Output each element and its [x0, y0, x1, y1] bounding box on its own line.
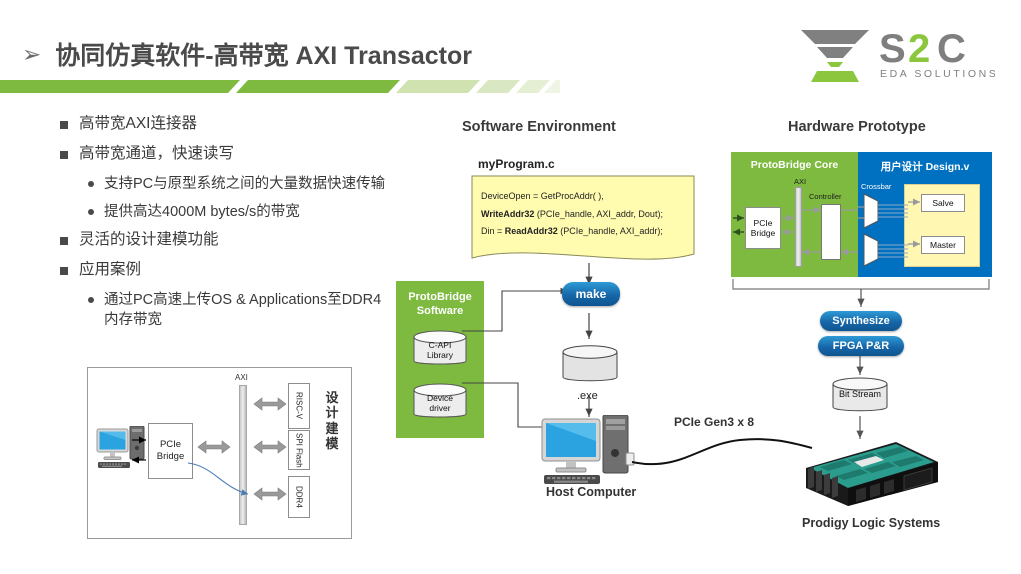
code-block: DeviceOpen = GetProcAddr( ), WriteAddr32…: [481, 188, 693, 241]
crossbar-connectors: [858, 152, 992, 277]
slave-block: Salve: [921, 194, 965, 212]
code-line-3: Din = ReadAddr32 (PCIe_handle, AXI_addr)…: [481, 223, 693, 241]
dot-bullet-icon: [88, 181, 94, 187]
sub-bullet-text: 支持PC与原型系统之间的大量数据快速传输: [104, 174, 385, 194]
bullet-item: 高带宽通道，快速读写: [60, 144, 390, 165]
peripheral-spi-flash: SPI Flash: [288, 430, 310, 470]
host-computer-illustration: [540, 415, 636, 487]
bullet-item: 应用案例: [60, 260, 390, 281]
bullet-list: 高带宽AXI连接器 高带宽通道，快速读写 支持PC与原型系统之间的大量数据快速传…: [60, 114, 390, 338]
pcie-link-label: PCIe Gen3 x 8: [674, 415, 754, 429]
title-arrow-icon: ➢: [22, 43, 41, 66]
s2c-logo: S 2 C EDA SOLUTIONS: [795, 22, 995, 84]
square-bullet-icon: [60, 151, 68, 159]
code-line-1: DeviceOpen = GetProcAddr( ),: [481, 188, 693, 206]
bullet-text: 灵活的设计建模功能: [79, 230, 219, 251]
user-design-box: 用户设计 Design.v Crossbar: [858, 152, 992, 277]
peripheral-riscv: RISC-V: [288, 383, 310, 429]
bullet-item: 灵活的设计建模功能: [60, 230, 390, 251]
slide-root: ➢ 协同仿真软件-高带宽 AXI Transactor S 2 C EDA SO…: [0, 0, 1021, 574]
svg-text:2: 2: [908, 27, 930, 71]
code-line-2: WriteAddr32 (PCIe_handle, AXI_addr, Dout…: [481, 206, 693, 224]
square-bullet-icon: [60, 121, 68, 129]
sub-bullet-item: 通过PC高速上传OS & Applications至DDR4内存带宽: [88, 290, 390, 330]
bit-stream-label: Bit Stream: [831, 389, 889, 400]
peripheral-ddr4-label: DDR4: [295, 486, 304, 508]
sub-bullet-text: 提供高达4000M bytes/s的带宽: [104, 202, 300, 222]
sub-bullet-text: 通过PC高速上传OS & Applications至DDR4内存带宽: [104, 290, 390, 330]
dot-bullet-icon: [88, 297, 94, 303]
software-environment-heading: Software Environment: [462, 119, 616, 135]
bullet-text: 应用案例: [79, 260, 141, 281]
peripheral-spi-flash-label: SPI Flash: [295, 433, 304, 468]
dot-bullet-icon: [88, 209, 94, 215]
exe-cylinder: [561, 344, 619, 386]
host-computer-label: Host Computer: [546, 485, 636, 499]
title-underline-decoration: [0, 80, 560, 93]
code-filename-label: myProgram.c: [478, 157, 555, 171]
svg-text:C: C: [937, 27, 966, 71]
synthesize-step-pill[interactable]: Synthesize: [820, 311, 902, 331]
square-bullet-icon: [60, 237, 68, 245]
hardware-prototype-heading: Hardware Prototype: [788, 119, 926, 135]
hardware-to-synthesize-bracket: [729, 277, 995, 311]
bullet-text: 高带宽通道，快速读写: [79, 144, 234, 165]
bullet-text: 高带宽AXI连接器: [79, 114, 197, 135]
peripheral-ddr4: DDR4: [288, 476, 310, 518]
hw-core-connectors: [731, 152, 858, 277]
sub-bullet-item: 提供高达4000M bytes/s的带宽: [88, 202, 390, 222]
bullet-item: 高带宽AXI连接器: [60, 114, 390, 135]
peripheral-riscv-label: RISC-V: [295, 392, 304, 419]
square-bullet-icon: [60, 267, 68, 275]
page-title-text: 协同仿真软件-高带宽 AXI Transactor: [55, 36, 472, 72]
svg-text:S: S: [879, 27, 906, 71]
sub-bullet-item: 支持PC与原型系统之间的大量数据快速传输: [88, 174, 390, 194]
bit-stream-cylinder: Bit Stream: [831, 376, 889, 416]
exe-label: .exe: [577, 390, 598, 402]
logo-tagline: EDA SOLUTIONS: [880, 68, 995, 80]
page-title: ➢ 协同仿真软件-高带宽 AXI Transactor: [22, 36, 472, 72]
prodigy-label: Prodigy Logic Systems: [802, 516, 940, 530]
protobridge-core-box: ProtoBridge Core AXI Controller PCIe Bri…: [731, 152, 858, 277]
master-block: Master: [921, 236, 965, 254]
prodigy-board-illustration: [800, 438, 940, 508]
diagram-connectors: [88, 368, 353, 540]
fpga-pnr-step-pill[interactable]: FPGA P&R: [818, 336, 904, 356]
make-step-pill[interactable]: make: [562, 282, 620, 306]
design-modeling-diagram: 设计建模 AXI: [87, 367, 352, 539]
